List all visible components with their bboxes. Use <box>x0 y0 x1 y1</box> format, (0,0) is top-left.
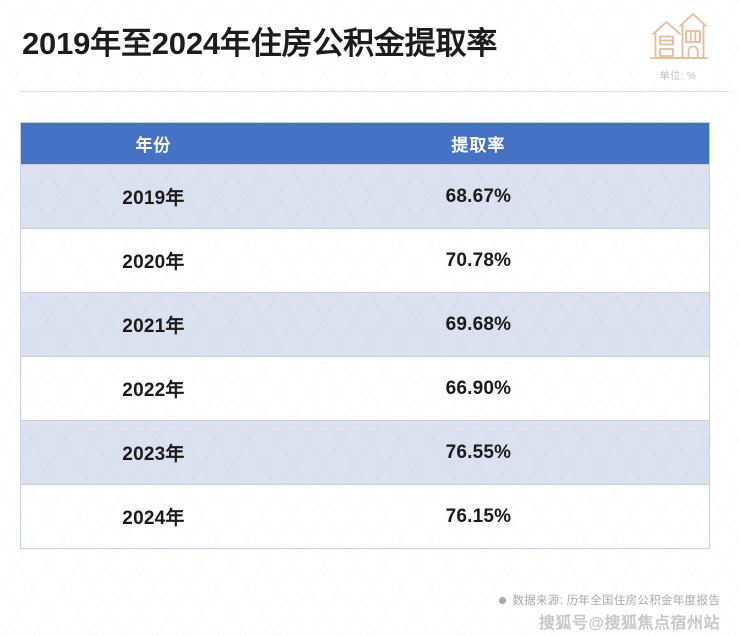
cell-year-label: 2021年 <box>122 311 184 338</box>
infographic-page: 2019年至2024年住房公积金提取率 <box>0 0 740 636</box>
unit-label: 单位: % <box>632 67 724 82</box>
cell-rate-label: 68.67% <box>446 186 512 208</box>
cell-year-label: 2019年 <box>122 183 184 210</box>
column-header-rate: 提取率 <box>286 123 709 164</box>
page-title: 2019年至2024年住房公积金提取率 <box>22 18 497 63</box>
cell-rate: 66.90% <box>286 357 709 420</box>
cell-rate: 76.15% <box>286 485 709 548</box>
source-note: 数据来源: 历年全国住房公积金年度报告 <box>499 592 720 608</box>
cell-year: 2022年 <box>21 357 286 420</box>
table-row: 2021年 69.68% <box>21 292 709 356</box>
house-icon <box>647 8 709 64</box>
cell-year: 2019年 <box>21 165 286 228</box>
table-row: 2024年 76.15% <box>21 484 709 548</box>
column-header-year-label: 年份 <box>135 131 171 156</box>
table-row: 2019年 68.67% <box>21 164 709 228</box>
table-header-row: 年份 提取率 <box>21 123 709 164</box>
cell-year: 2023年 <box>21 421 286 484</box>
data-table: 年份 提取率 2019年 68.67% 2020年 70.78% 20 <box>20 122 710 549</box>
table-row: 2020年 70.78% <box>21 228 709 292</box>
cell-rate-label: 76.55% <box>446 442 512 464</box>
header-divider <box>20 91 730 92</box>
cell-year-label: 2024年 <box>122 503 184 530</box>
cell-year-label: 2020年 <box>122 247 184 274</box>
header: 2019年至2024年住房公积金提取率 <box>0 0 740 92</box>
cell-rate: 68.67% <box>286 165 709 228</box>
cell-rate: 70.78% <box>286 229 709 292</box>
cell-year-label: 2022年 <box>122 375 184 402</box>
cell-rate-label: 69.68% <box>446 314 512 336</box>
cell-year: 2020年 <box>21 229 286 292</box>
cell-year: 2024年 <box>21 485 286 548</box>
table-row: 2023年 76.55% <box>21 420 709 484</box>
column-header-year: 年份 <box>21 123 286 164</box>
source-text: 数据来源: 历年全国住房公积金年度报告 <box>512 592 720 608</box>
table-row: 2022年 66.90% <box>21 356 709 420</box>
cell-rate-label: 66.90% <box>446 378 512 400</box>
bullet-icon <box>499 597 506 604</box>
cell-rate: 76.55% <box>286 421 709 484</box>
unit-block: 单位: % <box>632 8 724 82</box>
cell-year: 2021年 <box>21 293 286 356</box>
cell-rate-label: 70.78% <box>446 250 512 272</box>
brand-watermark: 搜狐号@搜狐焦点宿州站 <box>539 609 720 633</box>
cell-rate-label: 76.15% <box>446 506 512 528</box>
column-header-rate-label: 提取率 <box>451 131 505 156</box>
cell-year-label: 2023年 <box>122 439 184 466</box>
cell-rate: 69.68% <box>286 293 709 356</box>
